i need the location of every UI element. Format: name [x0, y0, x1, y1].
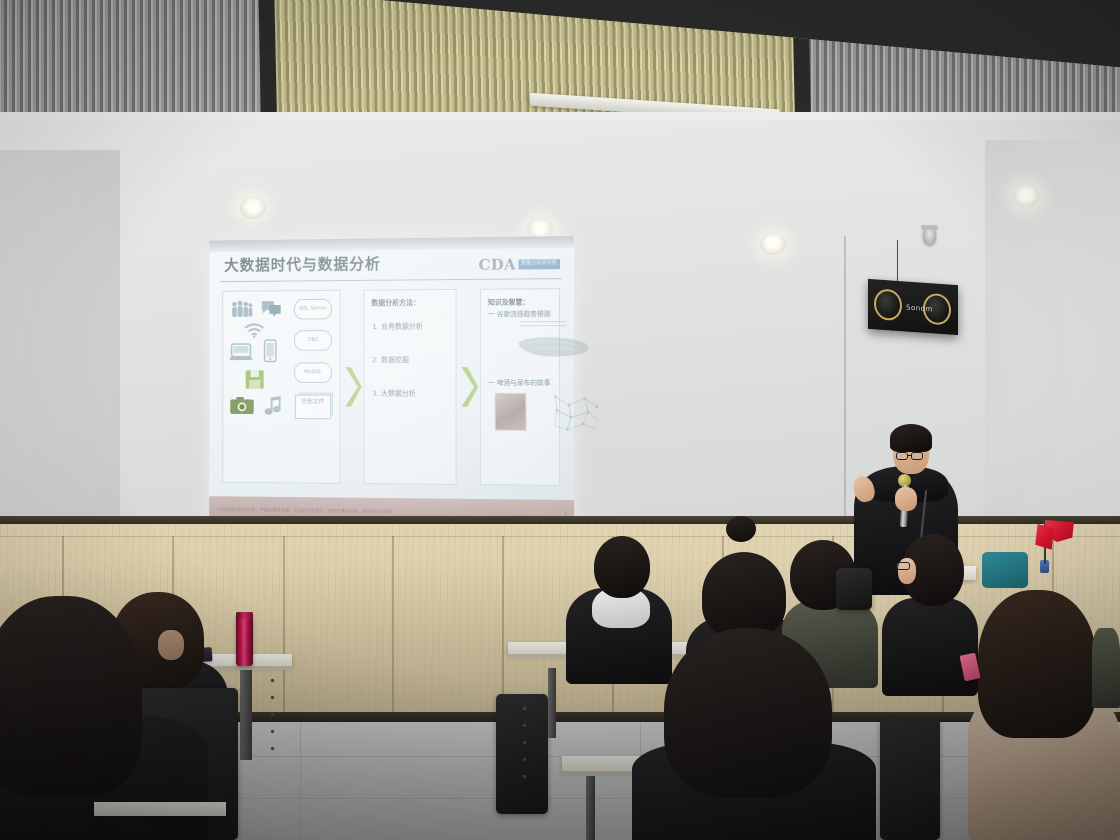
slide-title: 大数据时代与数据分析: [224, 252, 381, 275]
people-icon: [231, 300, 254, 320]
left-wall: [0, 150, 120, 550]
desk-foreground-left: [94, 802, 226, 816]
chair-perforation-mid: [520, 700, 529, 786]
wainscot-seam-3: [283, 536, 285, 719]
save-disk-icon: [245, 369, 265, 389]
desk-left-upper-leg: [240, 670, 252, 760]
smartphone-icon: [264, 339, 277, 362]
wainscot-seam-4: [392, 536, 394, 719]
laptop-icon: [230, 342, 253, 361]
fg-left-head: [0, 596, 142, 796]
pink-thermos: [236, 614, 253, 666]
bun-person-topknot: [726, 516, 756, 542]
presenter-glasses-left-lens: [896, 452, 908, 460]
cda-logo: CDA 数据分析研究院: [479, 255, 560, 274]
slide-footer-text: CDA数据分析研究院：严谨的教学风格，专业的学术团队，系统的课程体系，领先的行业…: [217, 507, 393, 515]
knowledge-bullet-1: 一 谷歌流感趋势预测: [488, 308, 551, 318]
screen-surface: 大数据时代与数据分析 CDA 数据分析研究院: [209, 236, 574, 524]
slide-title-rule: [220, 278, 562, 282]
database-mysql: MySQL: [294, 362, 332, 383]
desk-foreground-center-leg: [586, 776, 595, 840]
method-num-1: 1.: [372, 322, 379, 331]
method-label-2: 数据挖掘: [381, 355, 409, 364]
hoodie-person-head: [594, 536, 650, 598]
presenter-mic-hand: [895, 487, 917, 511]
bun-person-head: [702, 552, 786, 638]
chevron-arrow-1: [341, 290, 364, 484]
method-num-2: 2.: [372, 355, 379, 364]
external-file-stack: 外部文件: [295, 395, 331, 420]
knowledge-label-1: 谷歌流感趋势预测: [497, 310, 551, 318]
database-db2: DB2: [294, 330, 332, 351]
presenter-glasses-right-lens: [911, 452, 923, 460]
source-icon-grid: SQL Server DB2 MySQL 外部文件: [229, 298, 334, 476]
knowledge-mark-1: 一: [488, 310, 495, 318]
left-mid-ear-area: [158, 630, 184, 660]
beer-diaper-photo: [495, 393, 527, 431]
knowledge-heading: 知识及智慧：: [488, 297, 529, 307]
downlight-3: [760, 233, 786, 255]
presenter-glasses-bridge: [908, 455, 911, 456]
method-label-1: 业务数据分析: [381, 322, 423, 331]
downlight-4: [1013, 185, 1039, 207]
panel-analysis-methods: 数据分析方法： 1. 业务数据分析 2. 数据挖掘 3. 大数据分析: [364, 289, 457, 485]
method-num-3: 3.: [372, 389, 379, 398]
method-label-3: 大数据分析: [381, 389, 416, 398]
glasses-person-torso: [882, 598, 978, 696]
chat-bubble-icon: [261, 300, 282, 318]
right-wall: [985, 140, 1120, 560]
sprinkler-icon: [923, 229, 936, 245]
slide-content: 大数据时代与数据分析 CDA 数据分析研究院: [220, 250, 562, 494]
far-right-torso: [1092, 628, 1120, 708]
flu-trend-textlines: [520, 321, 566, 329]
projection-screen: 大数据时代与数据分析 CDA 数据分析研究院: [209, 236, 574, 524]
method-item-3: 3. 大数据分析: [372, 389, 416, 399]
wainscot-seam-5: [502, 536, 504, 719]
glasses-person-eyeglasses: [896, 562, 910, 570]
beige-person-hair: [978, 590, 1096, 738]
database-sqlserver: SQL Server: [294, 299, 332, 320]
slide-panel-row: SQL Server DB2 MySQL 外部文件: [222, 288, 560, 486]
knowledge-label-2: 啤酒与尿布的故事: [497, 379, 551, 387]
speaker-brand-label: Sonom: [906, 304, 933, 314]
speaker-driver-left: [874, 288, 902, 321]
presenter-hair: [890, 424, 932, 452]
usa-map-icon: [514, 333, 593, 361]
methods-heading: 数据分析方法：: [371, 298, 420, 308]
wifi-icon: [244, 323, 265, 339]
chair-back-foreground-center: [880, 718, 940, 840]
wall-speaker: Sonom: [868, 279, 958, 335]
knowledge-mark-2: 一: [488, 379, 495, 387]
wall-corner-edge: [844, 236, 846, 526]
cda-logo-badge: 数据分析研究院: [518, 259, 560, 269]
chair-teal-right: [982, 552, 1028, 588]
fg-center-head: [664, 628, 832, 798]
pink-thermos-cap: [236, 612, 253, 619]
classroom-photo-scene: Sonom 大数据时代与数据分析 CDA 数据分析研究院: [0, 0, 1120, 840]
chair-perforation-left: [268, 672, 277, 758]
knowledge-bullet-2: 一 啤酒与尿布的故事: [488, 377, 551, 387]
desk-row1-leg: [548, 668, 556, 738]
music-note-icon: [265, 396, 284, 416]
network-graph-icon: [550, 391, 602, 433]
chevron-arrow-2: [457, 289, 480, 485]
chair-back-right-1: [836, 568, 872, 610]
method-item-1: 1. 业务数据分析: [372, 322, 423, 332]
method-item-2: 2. 数据挖掘: [372, 355, 409, 365]
cda-logo-text: CDA: [479, 256, 516, 274]
speaker-cable: [897, 240, 898, 286]
panel-knowledge-wisdom: 知识及智慧： 一 谷歌流感趋势预测 一 啤: [480, 288, 560, 486]
camera-icon: [230, 396, 254, 415]
downlight-1: [240, 197, 266, 219]
panel-data-sources: SQL Server DB2 MySQL 外部文件: [222, 290, 340, 484]
floor-tile-line-3: [300, 722, 301, 840]
